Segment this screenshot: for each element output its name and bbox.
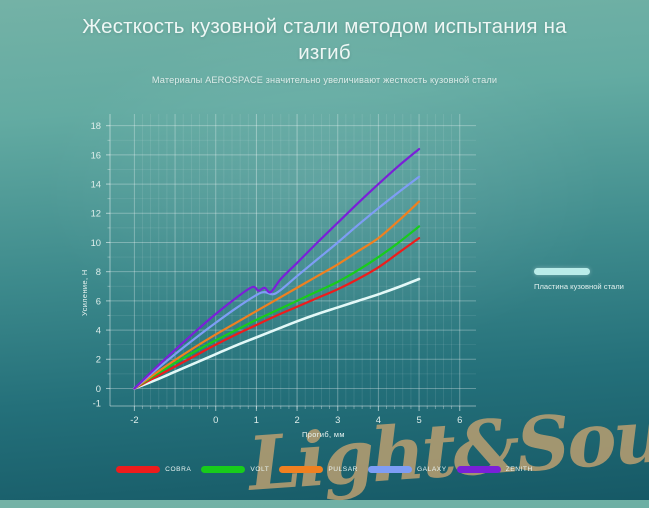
y-tick-label: 4 [96, 324, 101, 335]
page-title: Жесткость кузовной стали методом испытан… [0, 14, 649, 66]
y-tick-label: 16 [91, 149, 101, 160]
x-tick-label: 4 [376, 414, 381, 425]
y-tick-label: 18 [91, 120, 101, 131]
chart-area: Усиление, Н Прогиб, мм -1024681012141618… [0, 100, 649, 430]
chart-header: Жесткость кузовной стали методом испытан… [0, 14, 649, 85]
legend-swatch [457, 466, 501, 473]
y-tick-label: 8 [96, 266, 101, 277]
legend-swatch [116, 466, 160, 473]
y-tick-label: 0 [96, 383, 101, 394]
x-tick-label: 5 [416, 414, 421, 425]
legend-label: COBRA [165, 466, 191, 473]
x-axis-label: Прогиб, мм [302, 430, 345, 439]
series-line-cobra [134, 238, 419, 388]
legend-item-cobra[interactable]: COBRA [116, 466, 191, 473]
chart-legend: COBRAVOLTPULSARGALAXYZENITH [0, 466, 649, 488]
legend-swatch [201, 466, 245, 473]
legend-item-volt[interactable]: VOLT [201, 466, 269, 473]
x-tick-label: 1 [254, 414, 259, 425]
x-tick-label: 2 [294, 414, 299, 425]
y-tick-label: -1 [93, 397, 101, 408]
series-line-пластина-кузовной-стали [134, 279, 419, 389]
y-tick-label: 2 [96, 354, 101, 365]
y-tick-label: 10 [91, 237, 101, 248]
legend-label: PULSAR [328, 466, 358, 473]
y-tick-label: 14 [91, 178, 101, 189]
x-tick-label: -2 [130, 414, 138, 425]
legend-label: VOLT [250, 466, 269, 473]
legend-swatch [368, 466, 412, 473]
legend-item-zenith[interactable]: ZENITH [457, 466, 533, 473]
side-legend-swatch [534, 268, 590, 275]
series-line-volt [134, 226, 419, 388]
legend-label: GALAXY [417, 466, 447, 473]
line-chart-svg: -1024681012141618-20123456 [0, 100, 649, 430]
legend-label: ZENITH [506, 466, 533, 473]
x-tick-label: 6 [457, 414, 462, 425]
legend-item-pulsar[interactable]: PULSAR [279, 466, 358, 473]
x-tick-label: 0 [213, 414, 218, 425]
page-subtitle: Материалы AEROSPACE значительно увеличив… [0, 75, 649, 85]
side-legend: Пластина кузовной стали [534, 268, 634, 293]
x-tick-label: 3 [335, 414, 340, 425]
y-tick-label: 12 [91, 208, 101, 219]
legend-swatch [279, 466, 323, 473]
side-legend-label: Пластина кузовной стали [534, 282, 634, 293]
legend-item-galaxy[interactable]: GALAXY [368, 466, 447, 473]
y-tick-label: 6 [96, 295, 101, 306]
